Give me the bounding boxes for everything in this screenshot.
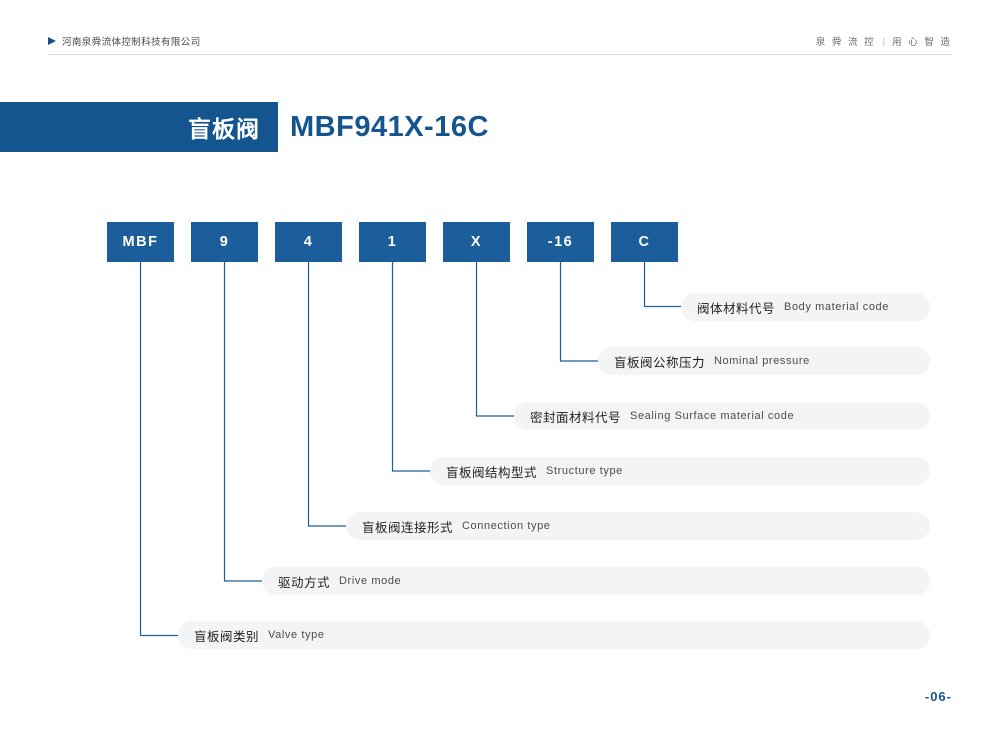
page-title-cn: 盲板阀	[188, 110, 260, 144]
code-box-c: C	[611, 222, 678, 262]
header-right: 泉 舜 流 控 | 用 心 智 造	[816, 34, 952, 48]
code-box-9: 9	[191, 222, 258, 262]
code-box-x: X	[443, 222, 510, 262]
label-cn: 盲板阀连接形式	[362, 517, 453, 536]
label-en: Valve type	[268, 629, 325, 641]
page-number: -06-	[925, 689, 952, 704]
label-cn: 盲板阀结构型式	[446, 462, 537, 481]
company-name: 河南泉舜流体控制科技有限公司	[62, 34, 201, 48]
label-en: Sealing Surface material code	[630, 410, 794, 422]
code-box-1: 1	[359, 222, 426, 262]
label-cn: 盲板阀公称压力	[614, 352, 705, 371]
label-en: Drive mode	[339, 575, 401, 587]
label-cn: 驱动方式	[278, 572, 330, 591]
label-connection-type: 盲板阀连接形式 Connection type	[346, 512, 930, 540]
label-sealing-surface-material-code: 密封面材料代号 Sealing Surface material code	[514, 402, 930, 430]
code-box-16: -16	[527, 222, 594, 262]
header-left: 河南泉舜流体控制科技有限公司	[48, 34, 201, 48]
title-band: 盲板阀	[0, 102, 278, 152]
code-box-mbf: MBF	[107, 222, 174, 262]
label-nominal-pressure: 盲板阀公称压力 Nominal pressure	[598, 347, 930, 375]
label-structure-type: 盲板阀结构型式 Structure type	[430, 457, 930, 485]
slogan-left: 泉 舜 流 控	[816, 34, 876, 48]
header-separator: |	[883, 36, 885, 47]
label-en: Connection type	[462, 520, 551, 532]
slogan-right: 用 心 智 造	[892, 34, 952, 48]
label-cn: 密封面材料代号	[530, 407, 621, 426]
label-valve-type: 盲板阀类别 Valve type	[178, 621, 930, 649]
label-body-material-code: 阀体材料代号 Body material code	[681, 293, 930, 321]
model-code-row: MBF 9 4 1 X -16 C	[107, 222, 678, 262]
label-en: Nominal pressure	[714, 355, 810, 367]
label-cn: 阀体材料代号	[697, 298, 775, 317]
page-header: 河南泉舜流体控制科技有限公司 泉 舜 流 控 | 用 心 智 造	[48, 28, 952, 55]
label-cn: 盲板阀类别	[194, 626, 259, 645]
code-box-4: 4	[275, 222, 342, 262]
page-title-en: MBF941X-16C	[290, 102, 489, 152]
label-en: Structure type	[546, 465, 623, 477]
label-en: Body material code	[784, 301, 889, 313]
label-drive-mode: 驱动方式 Drive mode	[262, 567, 930, 595]
triangle-right-icon	[48, 37, 56, 45]
